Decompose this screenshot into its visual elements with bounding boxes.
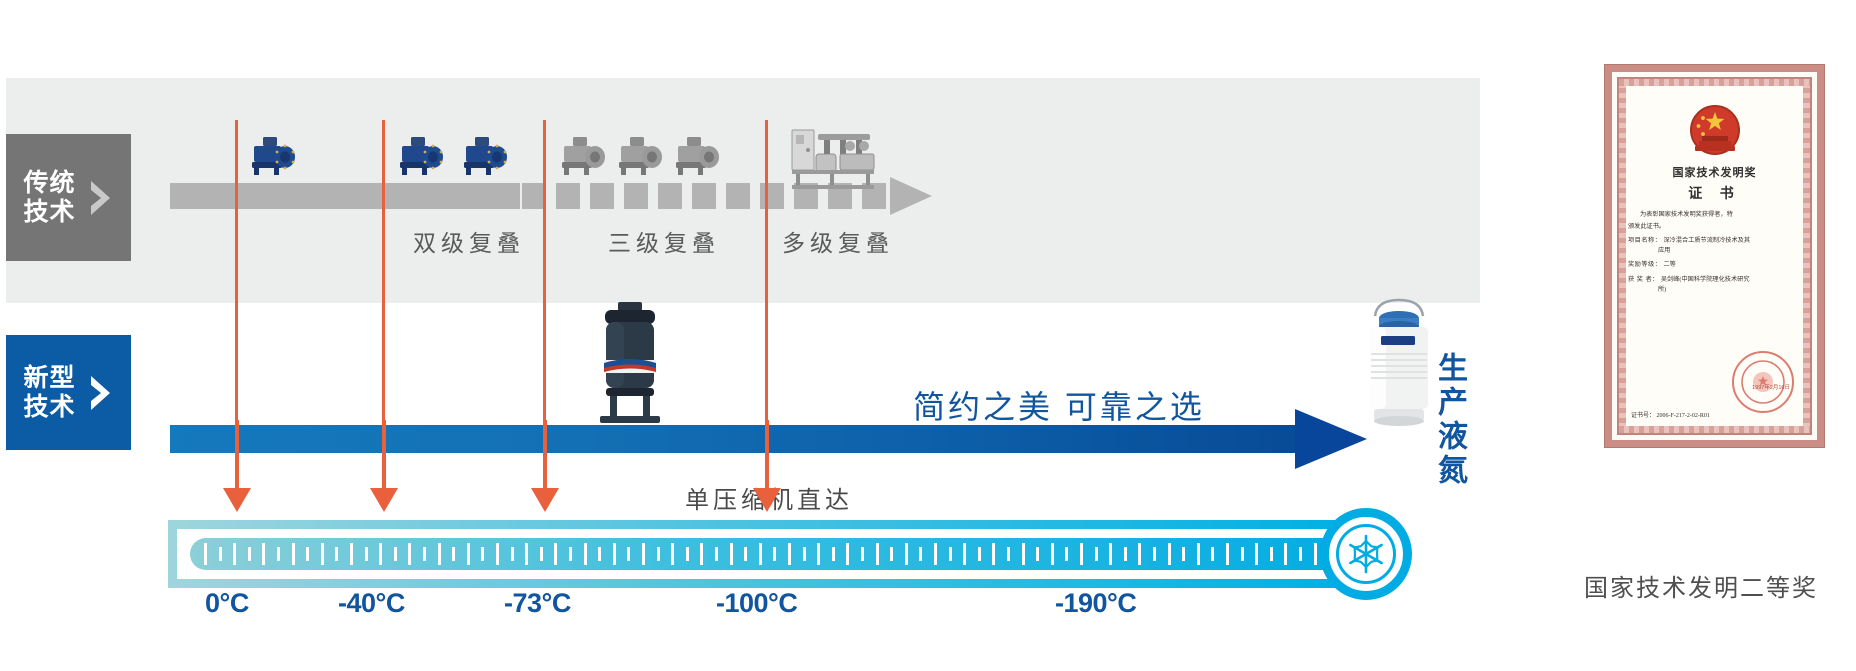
thermometer-tick	[715, 547, 718, 561]
thermometer-tick	[584, 543, 587, 565]
certificate-body: 为表彰国家技术发明奖获得者，特 颁发此证书。 项目名称： 深冷混合工质节流制冷技…	[1628, 210, 1801, 294]
thermometer-tick	[321, 543, 324, 565]
thermometer-tick	[1124, 547, 1127, 561]
down-arrow-2	[531, 420, 559, 512]
temp-label-3: -100°C	[716, 588, 797, 619]
thermometer-tick	[394, 547, 397, 561]
stage-label-1: 三级复叠	[608, 224, 720, 258]
thermometer-tick	[1314, 543, 1317, 565]
stage-label-2: 多级复叠	[782, 224, 894, 258]
thermometer-tick	[992, 543, 995, 565]
thermometer-tick	[350, 543, 353, 565]
temp-label-2: -73°C	[504, 588, 571, 619]
down-arrow-0	[223, 420, 251, 512]
compressor-icon-6	[674, 134, 720, 178]
certificate-winner-key: 获 奖 者：	[1628, 275, 1659, 285]
thermometer-tick	[1036, 547, 1039, 561]
guide-line-3	[765, 120, 768, 420]
slide-canvas: 传统 技术	[0, 0, 1856, 671]
thermometer-tick	[1095, 547, 1098, 561]
temp-label-0: 0°C	[205, 588, 249, 619]
industrial-unit-icon	[790, 124, 878, 190]
thermometer-tick	[905, 543, 908, 565]
thermometer-tick	[379, 543, 382, 565]
traditional-arrow-dash	[692, 183, 716, 209]
thermometer-tick	[1226, 543, 1229, 565]
thermometer-tick	[554, 543, 557, 565]
thermometer-tick	[511, 547, 514, 561]
thermometer-tick	[671, 543, 674, 565]
down-arrow-shaft	[382, 420, 386, 488]
official-seal-icon	[1732, 351, 1794, 413]
chevron-right-icon	[88, 179, 114, 217]
liquid-nitrogen-dewar-icon	[1357, 296, 1441, 433]
thermometer-tick	[846, 543, 849, 565]
thermometer-tick	[248, 547, 251, 561]
thermometer-tick	[1007, 547, 1010, 561]
thermometer-tick	[452, 547, 455, 561]
thermometer-tick	[496, 543, 499, 565]
guide-line-1	[382, 120, 385, 420]
certificate-winner-value: 吴剑峰(中国科学院理化技术研究	[1661, 275, 1750, 285]
certificate-project-value2: 应用	[1628, 246, 1801, 256]
thermometer-tick	[876, 543, 879, 565]
national-emblem-icon	[1684, 103, 1746, 161]
temperature-scale	[168, 520, 1430, 588]
down-arrow-1	[370, 420, 398, 512]
thermometer-tick	[861, 547, 864, 561]
production-liquid-nitrogen-label: 生产液氮	[1434, 352, 1464, 488]
thermometer-tick	[700, 543, 703, 565]
traditional-arrow-solid	[170, 183, 520, 209]
thermometer-tick	[569, 547, 572, 561]
thermometer-tick	[306, 547, 309, 561]
down-arrow-head-icon	[223, 488, 251, 512]
thermometer-tick	[788, 543, 791, 565]
thermometer-tick	[1197, 543, 1200, 565]
thermometer-tick	[686, 547, 689, 561]
certificate-project-key: 项目名称：	[1628, 236, 1661, 246]
down-arrow-3	[753, 420, 781, 512]
thermometer-tick	[467, 543, 470, 565]
thermometer-tick	[365, 547, 368, 561]
thermometer-tick	[803, 547, 806, 561]
traditional-arrow-dash	[590, 183, 614, 209]
thermometer-tick	[292, 543, 295, 565]
traditional-arrow-head-icon	[890, 177, 932, 215]
scroll-compressor-icon	[594, 300, 666, 433]
thermometer-tick	[408, 543, 411, 565]
thermometer-tick	[730, 543, 733, 565]
compressor-icon-2	[398, 134, 444, 178]
thermometer-tick	[540, 547, 543, 561]
certificate-winner-value2: 所)	[1628, 285, 1801, 295]
compressor-icon-4	[560, 134, 606, 178]
thermometer-tick	[657, 547, 660, 561]
thermometer-tick	[642, 543, 645, 565]
chevron-right-icon	[88, 374, 114, 412]
certificate-intro-line2: 颁发此证书。	[1628, 222, 1801, 232]
down-arrow-head-icon	[531, 488, 559, 512]
thermometer-tick	[1241, 547, 1244, 561]
thermometer-tick	[219, 547, 222, 561]
compressor-icon-1	[250, 134, 296, 178]
category-traditional-label: 传统 技术	[23, 169, 75, 227]
traditional-arrow-dash	[556, 183, 580, 209]
category-new-label: 新型 技术	[23, 364, 75, 422]
compressor-icon-5	[617, 134, 663, 178]
certificate-project-value: 深冷混合工质节流制冷技术及其	[1663, 236, 1750, 246]
thermometer-tick	[1284, 543, 1287, 565]
thermometer-tick	[1138, 543, 1141, 565]
thermometer-tick	[481, 547, 484, 561]
certificate-seal-date: 1997年2月16日	[1752, 383, 1790, 391]
thermometer-tick	[890, 547, 893, 561]
thermometer-tube-fill	[190, 538, 1390, 570]
thermometer-tick	[773, 547, 776, 561]
thermometer-tick	[1182, 547, 1185, 561]
thermometer-tick	[262, 543, 265, 565]
guide-line-0	[235, 120, 238, 420]
thermometer-tick	[832, 547, 835, 561]
thermometer-tick	[1270, 547, 1273, 561]
certificate-inner: 国家技术发明奖 证 书 为表彰国家技术发明奖获得者，特 颁发此证书。 项目名称：…	[1617, 77, 1812, 435]
category-traditional[interactable]: 传统 技术	[6, 134, 131, 261]
traditional-arrow-dash	[760, 183, 784, 209]
thermometer-tick	[919, 547, 922, 561]
thermometer-tick	[744, 547, 747, 561]
thermometer-tick	[1109, 543, 1112, 565]
traditional-arrow-dash	[726, 183, 750, 209]
thermometer-tick	[1051, 543, 1054, 565]
thermometer-tick	[1022, 543, 1025, 565]
certificate-image[interactable]: 国家技术发明奖 证 书 为表彰国家技术发明奖获得者，特 颁发此证书。 项目名称：…	[1605, 65, 1824, 447]
thermometer-tick	[934, 543, 937, 565]
slogan-text: 简约之美 可靠之选	[913, 382, 1205, 428]
thermometer-tick	[525, 543, 528, 565]
thermometer-tick	[423, 547, 426, 561]
down-arrow-head-icon	[753, 488, 781, 512]
guide-line-2	[543, 120, 546, 420]
thermometer-tick	[1153, 547, 1156, 561]
thermometer-tick	[233, 543, 236, 565]
thermometer-tick	[817, 543, 820, 565]
thermometer-tick	[1080, 543, 1083, 565]
down-arrow-shaft	[765, 420, 769, 488]
thermometer-tick	[978, 547, 981, 561]
thermometer-tick	[627, 547, 630, 561]
snowflake-icon	[1336, 524, 1396, 584]
traditional-arrow-dash	[624, 183, 648, 209]
certificate-caption: 国家技术发明二等奖	[1551, 568, 1851, 603]
category-new[interactable]: 新型 技术	[6, 335, 131, 450]
temp-label-4: -190°C	[1055, 588, 1136, 619]
certificate-subtitle: 证 书	[1628, 183, 1801, 203]
thermometer-tick	[949, 547, 952, 561]
thermometer-tick	[598, 547, 601, 561]
traditional-arrow-dash	[658, 183, 682, 209]
thermometer-tick	[759, 543, 762, 565]
down-arrow-head-icon	[370, 488, 398, 512]
compressor-icon-3	[462, 134, 508, 178]
thermometer-tick	[1211, 547, 1214, 561]
thermometer-tick	[1168, 543, 1171, 565]
temp-label-1: -40°C	[338, 588, 405, 619]
certificate-intro-line1: 为表彰国家技术发明奖获得者，特	[1628, 210, 1801, 220]
thermometer-tick	[438, 543, 441, 565]
thermometer-tick	[1299, 547, 1302, 561]
thermometer-tick	[335, 547, 338, 561]
thermometer-tick	[963, 543, 966, 565]
down-arrow-shaft	[543, 420, 547, 488]
thermometer-tick	[1065, 547, 1068, 561]
thermometer-tick	[204, 543, 207, 565]
down-arrow-shaft	[235, 420, 239, 488]
certificate-number: 证书号： 2006-F-217-2-02-R01	[1631, 410, 1710, 419]
thermometer-tick	[1255, 543, 1258, 565]
thermometer-tick	[277, 547, 280, 561]
stage-label-0: 双级复叠	[413, 224, 525, 258]
new-tech-arrow-bar	[170, 425, 1300, 453]
certificate-grade-value: 二等	[1663, 260, 1675, 270]
certificate-title: 国家技术发明奖	[1628, 164, 1801, 180]
certificate-grade-key: 奖励等级：	[1628, 260, 1661, 270]
thermometer-tick	[613, 543, 616, 565]
